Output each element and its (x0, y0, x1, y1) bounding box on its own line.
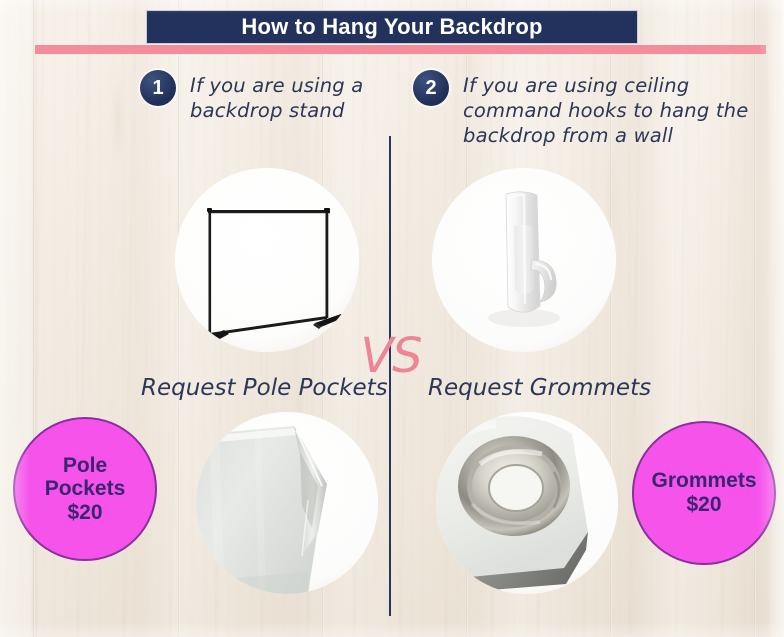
command-hook-image (432, 168, 616, 352)
step-2-text: If you are using ceiling command hooks t… (463, 70, 758, 148)
caption-pole-pockets: Request Pole Pockets (141, 375, 388, 401)
backdrop-stand-image (175, 168, 359, 352)
price-bubble-line-1: Pole (63, 454, 107, 478)
caption-grommets: Request Grommets (428, 375, 651, 401)
step-2: 2 If you are using ceiling command hooks… (413, 70, 758, 148)
grommet-illustration (436, 412, 618, 594)
pole-pocket-image (196, 412, 378, 594)
grommet-photo (436, 412, 618, 594)
pole-pocket-illustration (196, 412, 378, 594)
header-pink-rule (35, 45, 766, 54)
price-bubble-line-2: $20 (686, 493, 721, 517)
command-hook-photo (432, 168, 616, 352)
price-bubble-grommets[interactable]: Grommets $20 (632, 421, 776, 565)
backdrop-stand-photo (175, 168, 359, 352)
step-1-text: If you are using a backdrop stand (190, 70, 380, 123)
step-1: 1 If you are using a backdrop stand (140, 70, 380, 123)
step-1-number-badge: 1 (140, 70, 176, 106)
pole-pocket-fabric-photo (196, 412, 378, 594)
infographic-canvas: How to Hang Your Backdrop 1 If you are u… (0, 0, 784, 637)
page-title: How to Hang Your Backdrop (241, 14, 542, 40)
price-bubble-line-1: Grommets (651, 469, 756, 493)
command-hook-illustration (432, 168, 616, 352)
title-bar: How to Hang Your Backdrop (146, 10, 638, 44)
price-bubble-line-2: Pockets (45, 477, 126, 501)
step-2-number-badge: 2 (413, 70, 449, 106)
backdrop-stand-illustration (175, 168, 359, 352)
price-bubble-pole-pockets[interactable]: Pole Pockets $20 (13, 417, 157, 561)
price-bubble-line-3: $20 (67, 501, 102, 525)
grommet-image (436, 412, 618, 594)
